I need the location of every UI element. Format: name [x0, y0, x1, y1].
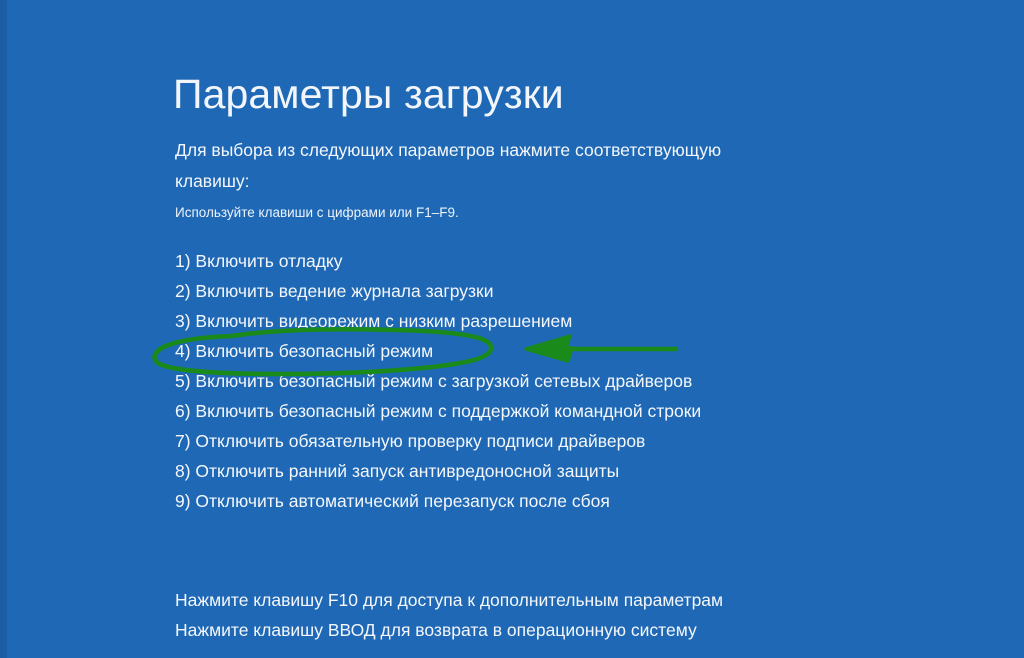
- boot-option-7[interactable]: 7) Отключить обязательную проверку подпи…: [175, 426, 875, 456]
- intro-text: Для выбора из следующих параметров нажми…: [175, 135, 800, 197]
- page-title: Параметры загрузки: [173, 71, 564, 118]
- boot-option-2[interactable]: 2) Включить ведение журнала загрузки: [175, 276, 875, 306]
- footer-line-enter: Нажмите клавишу ВВОД для возврата в опер…: [175, 615, 875, 645]
- boot-option-8[interactable]: 8) Отключить ранний запуск антивредоносн…: [175, 456, 875, 486]
- boot-option-9[interactable]: 9) Отключить автоматический перезапуск п…: [175, 486, 875, 516]
- boot-option-6[interactable]: 6) Включить безопасный режим с поддержко…: [175, 396, 875, 426]
- boot-option-1[interactable]: 1) Включить отладку: [175, 246, 875, 276]
- footer-line-f10: Нажмите клавишу F10 для доступа к дополн…: [175, 585, 875, 615]
- footer-instructions: Нажмите клавишу F10 для доступа к дополн…: [175, 585, 875, 645]
- boot-option-4[interactable]: 4) Включить безопасный режим: [175, 336, 875, 366]
- boot-options-screen: Параметры загрузки Для выбора из следующ…: [0, 0, 1024, 658]
- boot-option-5[interactable]: 5) Включить безопасный режим с загрузкой…: [175, 366, 875, 396]
- boot-option-3[interactable]: 3) Включить видеорежим с низким разрешен…: [175, 306, 875, 336]
- hint-text: Используйте клавиши с цифрами или F1–F9.: [175, 203, 459, 223]
- boot-options-list: 1) Включить отладку 2) Включить ведение …: [175, 246, 875, 516]
